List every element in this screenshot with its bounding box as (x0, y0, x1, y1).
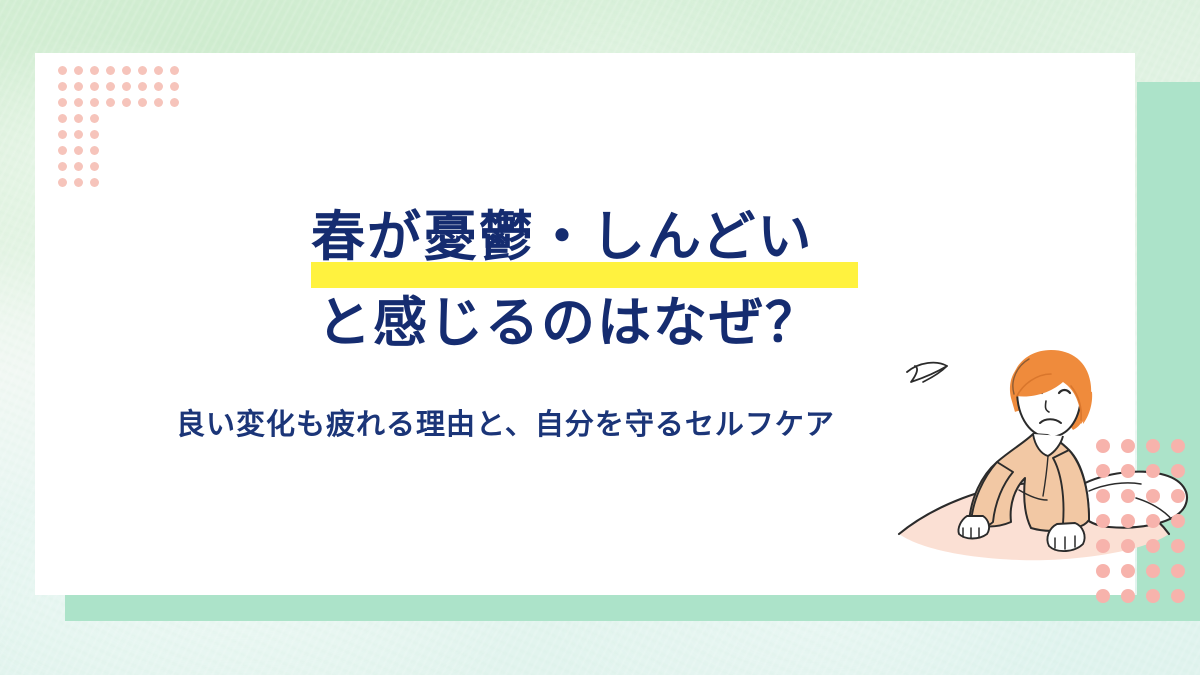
decorative-dot (58, 66, 67, 75)
decorative-dot (154, 98, 163, 107)
decorative-dot (138, 98, 147, 107)
decorative-dot (74, 178, 83, 187)
decorative-dot (154, 82, 163, 91)
decorative-dot (170, 82, 179, 91)
decorative-dot (1146, 564, 1160, 578)
decorative-dot (122, 98, 131, 107)
decorative-dot (1146, 464, 1160, 478)
decorative-dot (90, 162, 99, 171)
sigh-mark (907, 363, 947, 382)
decorative-dot (74, 130, 83, 139)
decorative-dot (1121, 564, 1135, 578)
decorative-dot (74, 114, 83, 123)
decorative-dot (1096, 464, 1110, 478)
banner-canvas: 春が憂鬱・しんどい と感じるのはなぜ？ 良い変化も疲れる理由と、自分を守るセルフ… (0, 0, 1200, 675)
decorative-dot (138, 66, 147, 75)
decorative-dot (1096, 589, 1110, 603)
decorative-dot (1171, 464, 1185, 478)
decorative-dot (1146, 539, 1160, 553)
highlight-marker-bar (311, 262, 858, 288)
decorative-dot (58, 162, 67, 171)
decorative-dot (1121, 539, 1135, 553)
decorative-dot (1171, 539, 1185, 553)
decorative-dot (58, 82, 67, 91)
decorative-dot (58, 98, 67, 107)
decorative-dot (1096, 539, 1110, 553)
decorative-dot (74, 82, 83, 91)
decorative-dot (1171, 489, 1185, 503)
headline-line-1: 春が憂鬱・しんどい (311, 206, 931, 268)
decorative-dot (1121, 439, 1135, 453)
decorative-dot (1171, 514, 1185, 528)
decorative-dot (90, 146, 99, 155)
decorative-dot (1096, 514, 1110, 528)
decorative-dot (1096, 439, 1110, 453)
decorative-dot (122, 82, 131, 91)
decorative-dot (1146, 439, 1160, 453)
decorative-dot (74, 162, 83, 171)
decorative-dot (1121, 514, 1135, 528)
decorative-dot (74, 98, 83, 107)
decorative-dot (74, 146, 83, 155)
decorative-dot (106, 82, 115, 91)
decorative-dot (170, 98, 179, 107)
decorative-dot (1171, 564, 1185, 578)
decorative-dot (1146, 589, 1160, 603)
decorative-dot (74, 66, 83, 75)
decorative-dot (138, 82, 147, 91)
decorative-dot (90, 98, 99, 107)
decorative-dot (58, 114, 67, 123)
decorative-dot (90, 114, 99, 123)
decorative-dot (58, 130, 67, 139)
decorative-dot (106, 66, 115, 75)
decorative-dot (1121, 589, 1135, 603)
decorative-dot (1096, 489, 1110, 503)
decorative-dot (1171, 589, 1185, 603)
decorative-dot (1121, 489, 1135, 503)
decorative-dot (90, 82, 99, 91)
decorative-dot (170, 66, 179, 75)
decorative-dot (1096, 564, 1110, 578)
mint-accent-bar-bottom (65, 595, 1200, 621)
decorative-dot (90, 66, 99, 75)
decorative-dot (122, 66, 131, 75)
headline-line-2: と感じるのはなぜ？ (317, 292, 931, 354)
decorative-dot (1171, 439, 1185, 453)
decorative-dot (58, 178, 67, 187)
decorative-dot (1146, 489, 1160, 503)
decorative-dot (154, 66, 163, 75)
decorative-dot (1121, 464, 1135, 478)
decorative-dot (90, 178, 99, 187)
decorative-dot (90, 130, 99, 139)
decorative-dot (1146, 514, 1160, 528)
decorative-dot (106, 98, 115, 107)
decorative-dot (58, 146, 67, 155)
